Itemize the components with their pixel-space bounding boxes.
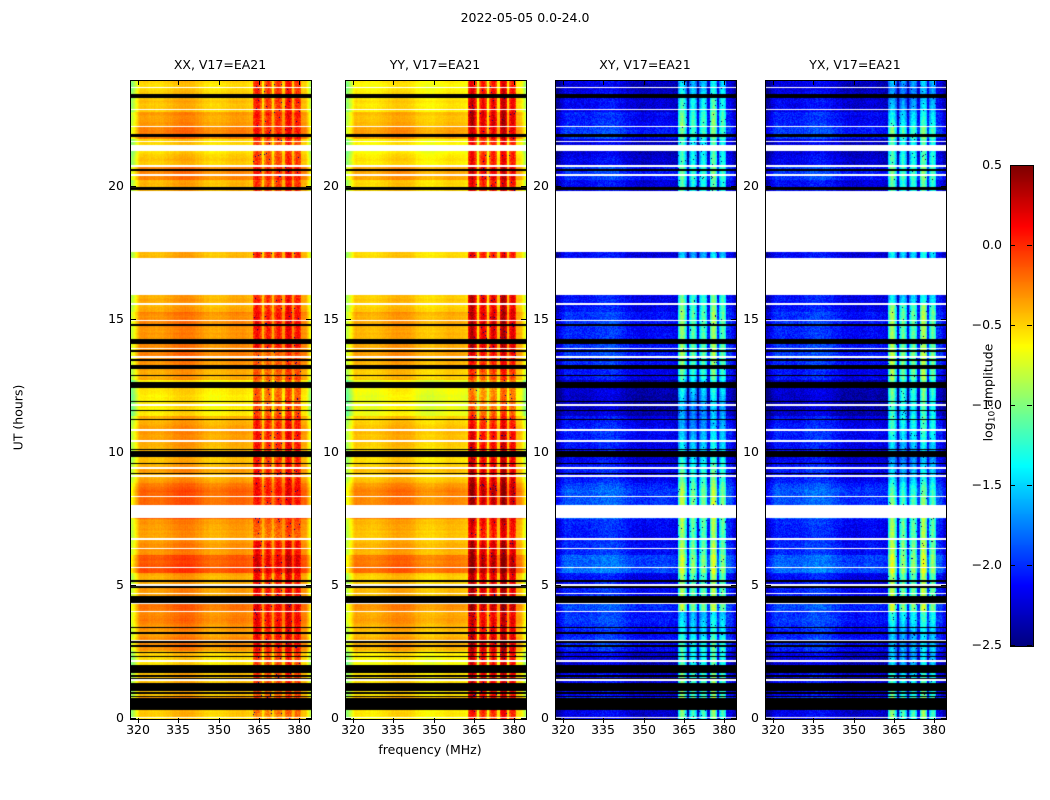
colorbar-tick-mark — [1027, 245, 1032, 246]
y-tick-label: 15 — [519, 311, 549, 326]
x-tick-mark — [773, 80, 774, 85]
colorbar-tick-mark — [1027, 325, 1032, 326]
y-tick-label: 5 — [729, 577, 759, 592]
y-tick-mark — [941, 186, 946, 187]
figure-title: 2022-05-05 0.0-24.0 — [0, 10, 1050, 25]
x-tick-mark — [219, 80, 220, 85]
y-tick-mark — [766, 186, 771, 187]
y-tick-label: 20 — [309, 178, 339, 193]
colorbar-label: log10 amplitude — [981, 323, 996, 463]
panel-yy[interactable] — [345, 80, 527, 720]
x-tick-label: 335 — [793, 722, 833, 737]
colorbar-label-subscript: 10 — [988, 411, 998, 422]
x-tick-label: 320 — [118, 722, 158, 737]
x-axis-label: frequency (MHz) — [230, 742, 630, 757]
x-tick-mark — [854, 80, 855, 85]
x-tick-label: 365 — [239, 722, 279, 737]
y-tick-mark — [766, 718, 771, 719]
y-tick-mark — [556, 585, 561, 586]
y-tick-mark — [346, 585, 351, 586]
colorbar-tick-mark — [1010, 565, 1015, 566]
y-tick-mark — [131, 319, 136, 320]
x-tick-mark — [299, 80, 300, 85]
y-tick-mark — [346, 319, 351, 320]
colorbar-label-text: log — [981, 422, 996, 441]
x-tick-mark — [684, 80, 685, 85]
y-tick-mark — [941, 452, 946, 453]
panel-yx[interactable] — [765, 80, 947, 720]
x-tick-label: 320 — [543, 722, 583, 737]
y-tick-label: 15 — [94, 311, 124, 326]
x-tick-label: 380 — [704, 722, 744, 737]
x-tick-mark — [393, 80, 394, 85]
x-tick-label: 320 — [753, 722, 793, 737]
y-tick-label: 10 — [94, 444, 124, 459]
colorbar-tick-mark — [1010, 485, 1015, 486]
y-tick-mark — [131, 186, 136, 187]
x-tick-label: 380 — [494, 722, 534, 737]
panel-xy[interactable] — [555, 80, 737, 720]
y-tick-label: 10 — [729, 444, 759, 459]
x-tick-mark — [138, 80, 139, 85]
x-tick-mark — [353, 80, 354, 85]
y-tick-mark — [346, 718, 351, 719]
y-tick-mark — [131, 585, 136, 586]
x-tick-label: 350 — [199, 722, 239, 737]
y-tick-mark — [346, 452, 351, 453]
y-tick-label: 15 — [729, 311, 759, 326]
x-tick-label: 380 — [279, 722, 319, 737]
colorbar-tick-mark — [1027, 485, 1032, 486]
x-tick-mark — [813, 80, 814, 85]
colorbar-tick-mark — [1027, 165, 1032, 166]
colorbar-tick-label: 0.0 — [962, 237, 1002, 252]
panel-title-xy: XY, V17=EA21 — [555, 57, 735, 72]
panel-title-xx: XX, V17=EA21 — [130, 57, 310, 72]
panel-xx[interactable] — [130, 80, 312, 720]
x-tick-label: 335 — [373, 722, 413, 737]
y-tick-label: 20 — [519, 178, 549, 193]
y-tick-label: 15 — [309, 311, 339, 326]
y-tick-mark — [766, 452, 771, 453]
x-tick-label: 350 — [834, 722, 874, 737]
colorbar-tick-label: −1.5 — [962, 477, 1002, 492]
y-tick-mark — [556, 186, 561, 187]
x-tick-mark — [724, 80, 725, 85]
colorbar-tick-mark — [1010, 165, 1015, 166]
y-tick-mark — [766, 585, 771, 586]
x-tick-label: 335 — [158, 722, 198, 737]
x-tick-label: 380 — [914, 722, 954, 737]
y-tick-mark — [941, 718, 946, 719]
x-tick-label: 365 — [454, 722, 494, 737]
y-tick-label: 20 — [729, 178, 759, 193]
x-tick-mark — [474, 80, 475, 85]
x-tick-mark — [603, 80, 604, 85]
colorbar-tick-label: −2.0 — [962, 557, 1002, 572]
x-tick-label: 335 — [583, 722, 623, 737]
colorbar-tick-mark — [1027, 645, 1032, 646]
x-tick-label: 350 — [414, 722, 454, 737]
x-tick-label: 365 — [664, 722, 704, 737]
x-tick-mark — [434, 80, 435, 85]
x-tick-mark — [514, 80, 515, 85]
x-tick-mark — [644, 80, 645, 85]
y-tick-label: 10 — [309, 444, 339, 459]
panel-title-yy: YY, V17=EA21 — [345, 57, 525, 72]
colorbar-tick-mark — [1010, 645, 1015, 646]
x-tick-mark — [259, 80, 260, 85]
x-tick-label: 365 — [874, 722, 914, 737]
y-tick-mark — [941, 319, 946, 320]
colorbar-tick-mark — [1027, 565, 1032, 566]
y-tick-mark — [131, 718, 136, 719]
y-tick-mark — [941, 585, 946, 586]
y-tick-mark — [556, 452, 561, 453]
x-tick-mark — [563, 80, 564, 85]
y-tick-mark — [131, 452, 136, 453]
x-tick-mark — [178, 80, 179, 85]
y-tick-label: 10 — [519, 444, 549, 459]
y-tick-label: 20 — [94, 178, 124, 193]
y-tick-mark — [556, 319, 561, 320]
y-tick-label: 5 — [94, 577, 124, 592]
colorbar-tick-mark — [1010, 405, 1015, 406]
colorbar-tick-label: −2.5 — [962, 637, 1002, 652]
y-tick-mark — [346, 186, 351, 187]
y-tick-label: 5 — [519, 577, 549, 592]
colorbar-tick-mark — [1027, 405, 1032, 406]
colorbar-label-tail: amplitude — [981, 344, 996, 411]
y-tick-mark — [766, 319, 771, 320]
panel-title-yx: YX, V17=EA21 — [765, 57, 945, 72]
x-tick-label: 320 — [333, 722, 373, 737]
y-tick-label: 5 — [309, 577, 339, 592]
x-tick-mark — [894, 80, 895, 85]
y-tick-mark — [556, 718, 561, 719]
x-tick-mark — [934, 80, 935, 85]
x-tick-label: 350 — [624, 722, 664, 737]
colorbar[interactable] — [1010, 165, 1034, 647]
colorbar-tick-label: 0.5 — [962, 157, 1002, 172]
y-axis-label: UT (hours) — [11, 358, 26, 478]
colorbar-tick-mark — [1010, 325, 1015, 326]
colorbar-tick-mark — [1010, 245, 1015, 246]
